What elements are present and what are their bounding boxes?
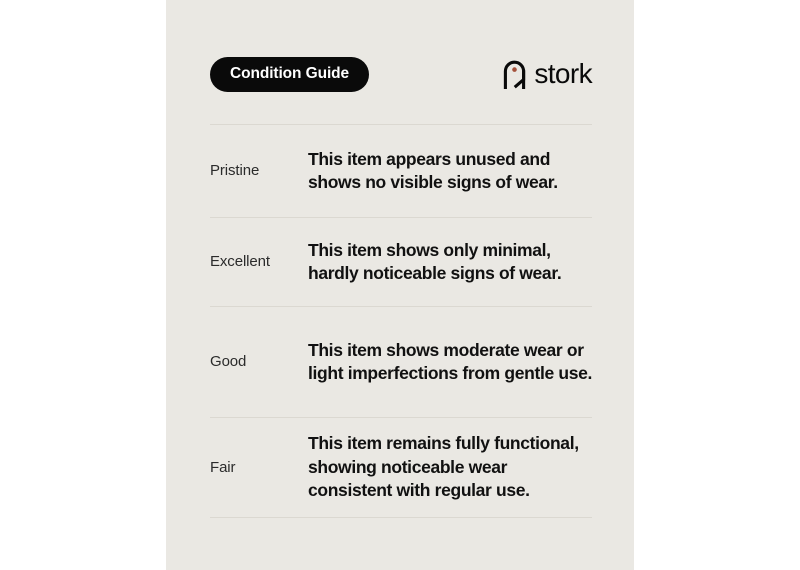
condition-guide-badge: Condition Guide <box>210 57 369 92</box>
page-root: Condition Guide stork Pristine This item… <box>0 0 800 570</box>
table-row: Pristine This item appears unused and sh… <box>210 125 592 217</box>
brand-logo: stork <box>502 59 592 89</box>
condition-label: Good <box>210 352 308 372</box>
card-header: Condition Guide stork <box>210 56 592 92</box>
condition-guide-card: Condition Guide stork Pristine This item… <box>166 0 634 570</box>
condition-label: Excellent <box>210 252 308 272</box>
table-row: Fair This item remains fully functional,… <box>210 418 592 517</box>
stork-arch-logo-icon <box>502 59 527 89</box>
table-row: Excellent This item shows only minimal, … <box>210 218 592 306</box>
condition-label: Pristine <box>210 161 308 181</box>
condition-description: This item remains fully functional, show… <box>308 432 592 502</box>
condition-label: Fair <box>210 458 308 478</box>
table-row: Good This item shows moderate wear or li… <box>210 307 592 417</box>
row-divider-bottom <box>210 517 592 518</box>
condition-description: This item appears unused and shows no vi… <box>308 148 592 195</box>
condition-guide-table: Pristine This item appears unused and sh… <box>210 124 592 518</box>
brand-wordmark: stork <box>534 60 592 88</box>
condition-description: This item shows moderate wear or light i… <box>308 339 592 386</box>
condition-description: This item shows only minimal, hardly not… <box>308 239 592 286</box>
